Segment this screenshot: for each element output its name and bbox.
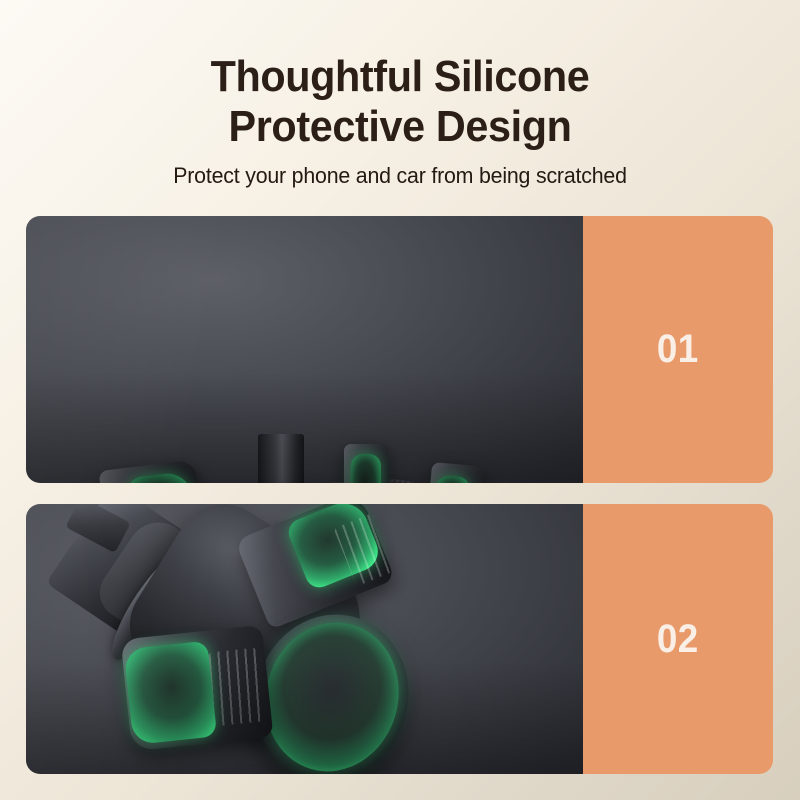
carbon-fibre-backplate [171, 477, 443, 483]
clamp-arm-right [426, 464, 478, 483]
headline-line-2: Protective Design [24, 102, 776, 152]
headline-line-1: Thoughtful Silicone [24, 52, 776, 102]
silicone-pad-jaw-lower [124, 641, 218, 745]
product-illustration-top: UGREEN [26, 216, 583, 483]
feature-number-panel-02: 02 [583, 504, 773, 774]
product-photo-cradle: UGREEN [26, 216, 583, 483]
feature-number-01: 01 [657, 327, 699, 372]
clamp-arm-center [344, 444, 388, 483]
silicone-pad-center [351, 454, 381, 483]
clamp-arm-left [112, 464, 208, 483]
mount-stem-upper [258, 434, 304, 483]
jaw-ribbing-lower [208, 648, 263, 727]
product-feature-page: Thoughtful Silicone Protective Design Pr… [0, 0, 800, 800]
page-subtitle: Protect your phone and car from being sc… [12, 151, 788, 189]
product-illustration-bottom [26, 504, 583, 774]
clamp-jaw-lower [121, 625, 274, 751]
header: Thoughtful Silicone Protective Design Pr… [0, 0, 800, 189]
feature-row-02: 02 [26, 504, 773, 774]
page-title: Thoughtful Silicone Protective Design [24, 0, 776, 151]
feature-row-01: UGREEN 01 [26, 216, 773, 483]
product-photo-vent-clip [26, 504, 583, 774]
feature-number-02: 02 [657, 617, 699, 662]
feature-number-panel-01: 01 [583, 216, 773, 483]
